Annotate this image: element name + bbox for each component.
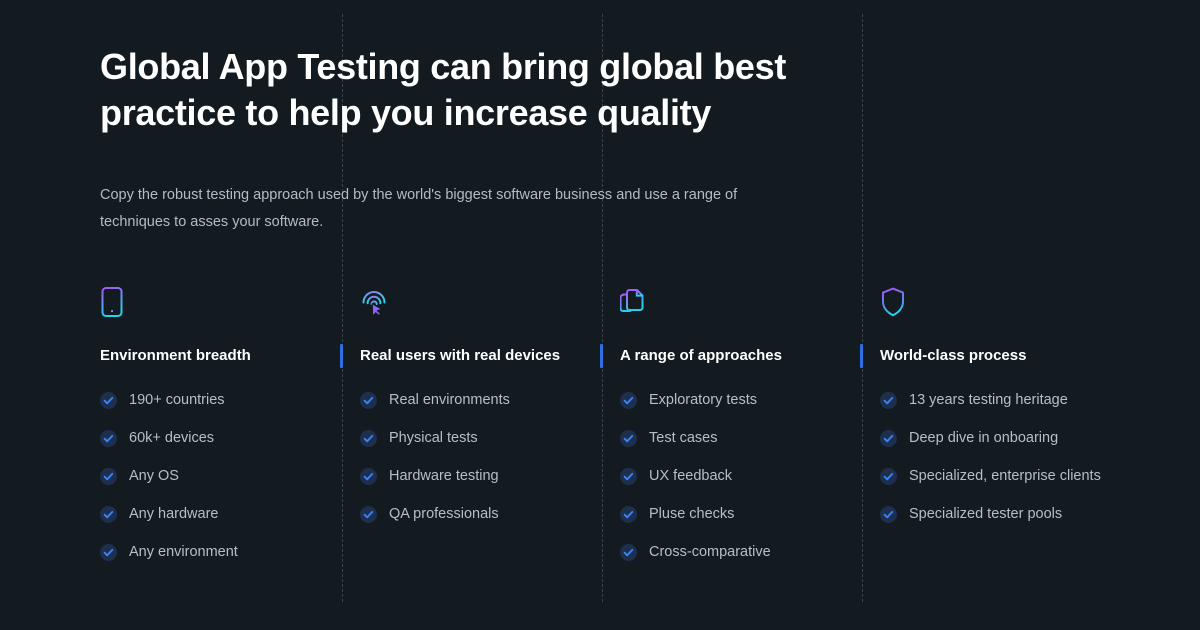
feature-column-approaches: A range of approaches Exploratory tests …: [620, 286, 880, 563]
feature-column-title-text: World-class process: [880, 346, 1026, 366]
list-item: Test cases: [620, 428, 858, 449]
feature-list: Real environments Physical tests Hardwar…: [360, 390, 598, 525]
check-circle-icon: [880, 468, 897, 485]
list-item: Any hardware: [100, 504, 338, 525]
feature-column-title: Real users with real devices: [360, 344, 598, 368]
check-circle-icon: [880, 430, 897, 447]
check-circle-icon: [620, 544, 637, 561]
page-title: Global App Testing can bring global best…: [100, 44, 800, 135]
feature-column-title-text: A range of approaches: [620, 346, 782, 366]
feature-column-title-text: Real users with real devices: [360, 346, 560, 366]
list-item-label: Exploratory tests: [649, 390, 757, 411]
check-circle-icon: [360, 430, 377, 447]
feature-column-real-users: Real users with real devices Real enviro…: [360, 286, 620, 563]
list-item: 13 years testing heritage: [880, 390, 1118, 411]
list-item: 190+ countries: [100, 390, 338, 411]
list-item: Hardware testing: [360, 466, 598, 487]
feature-list: 190+ countries 60k+ devices Any OS: [100, 390, 338, 563]
feature-column-environment-breadth: Environment breadth 190+ countries 60k+ …: [100, 286, 360, 563]
list-item-label: Real environments: [389, 390, 510, 411]
accent-bar: [340, 344, 343, 368]
check-circle-icon: [360, 468, 377, 485]
list-item: Pluse checks: [620, 504, 858, 525]
list-item-label: QA professionals: [389, 504, 499, 525]
list-item: Specialized, enterprise clients: [880, 466, 1118, 487]
list-item: Real environments: [360, 390, 598, 411]
list-item-label: UX feedback: [649, 466, 732, 487]
list-item-label: 60k+ devices: [129, 428, 214, 449]
list-item-label: 190+ countries: [129, 390, 225, 411]
list-item: Any OS: [100, 466, 338, 487]
shield-icon: [880, 286, 1118, 320]
check-circle-icon: [360, 392, 377, 409]
check-circle-icon: [100, 392, 117, 409]
feature-column-world-class-process: World-class process 13 years testing her…: [880, 286, 1140, 563]
list-item: Cross-comparative: [620, 542, 858, 563]
list-item: 60k+ devices: [100, 428, 338, 449]
list-item: Physical tests: [360, 428, 598, 449]
feature-column-title: World-class process: [880, 344, 1118, 368]
list-item-label: Any OS: [129, 466, 179, 487]
mobile-phone-icon: [100, 286, 338, 320]
list-item: Any environment: [100, 542, 338, 563]
list-item-label: 13 years testing heritage: [909, 390, 1068, 411]
check-circle-icon: [620, 430, 637, 447]
check-circle-icon: [880, 392, 897, 409]
list-item-label: Specialized, enterprise clients: [909, 466, 1101, 487]
list-item: QA professionals: [360, 504, 598, 525]
list-item-label: Any environment: [129, 542, 238, 563]
accent-bar: [860, 344, 863, 368]
list-item-label: Hardware testing: [389, 466, 499, 487]
list-item: Exploratory tests: [620, 390, 858, 411]
page-root: Global App Testing can bring global best…: [0, 0, 1200, 630]
check-circle-icon: [620, 392, 637, 409]
list-item: UX feedback: [620, 466, 858, 487]
check-circle-icon: [620, 506, 637, 523]
list-item-label: Physical tests: [389, 428, 478, 449]
check-circle-icon: [880, 506, 897, 523]
list-item: Specialized tester pools: [880, 504, 1118, 525]
tap-cursor-icon: [360, 286, 598, 320]
check-circle-icon: [100, 544, 117, 561]
accent-bar: [600, 344, 603, 368]
check-circle-icon: [360, 506, 377, 523]
list-item-label: Test cases: [649, 428, 718, 449]
list-item: Deep dive in onboaring: [880, 428, 1118, 449]
feature-list: Exploratory tests Test cases UX feedback: [620, 390, 858, 563]
feature-column-title: A range of approaches: [620, 344, 858, 368]
page-subtitle: Copy the robust testing approach used by…: [100, 182, 800, 236]
list-item-label: Any hardware: [129, 504, 218, 525]
feature-column-title: Environment breadth: [100, 344, 338, 368]
feature-columns: Environment breadth 190+ countries 60k+ …: [0, 286, 1200, 563]
list-item-label: Pluse checks: [649, 504, 734, 525]
feature-list: 13 years testing heritage Deep dive in o…: [880, 390, 1118, 525]
check-circle-icon: [100, 468, 117, 485]
copy-documents-icon: [620, 286, 858, 320]
list-item-label: Specialized tester pools: [909, 504, 1062, 525]
check-circle-icon: [100, 430, 117, 447]
list-item-label: Deep dive in onboaring: [909, 428, 1058, 449]
list-item-label: Cross-comparative: [649, 542, 771, 563]
feature-column-title-text: Environment breadth: [100, 346, 251, 366]
check-circle-icon: [620, 468, 637, 485]
check-circle-icon: [100, 506, 117, 523]
